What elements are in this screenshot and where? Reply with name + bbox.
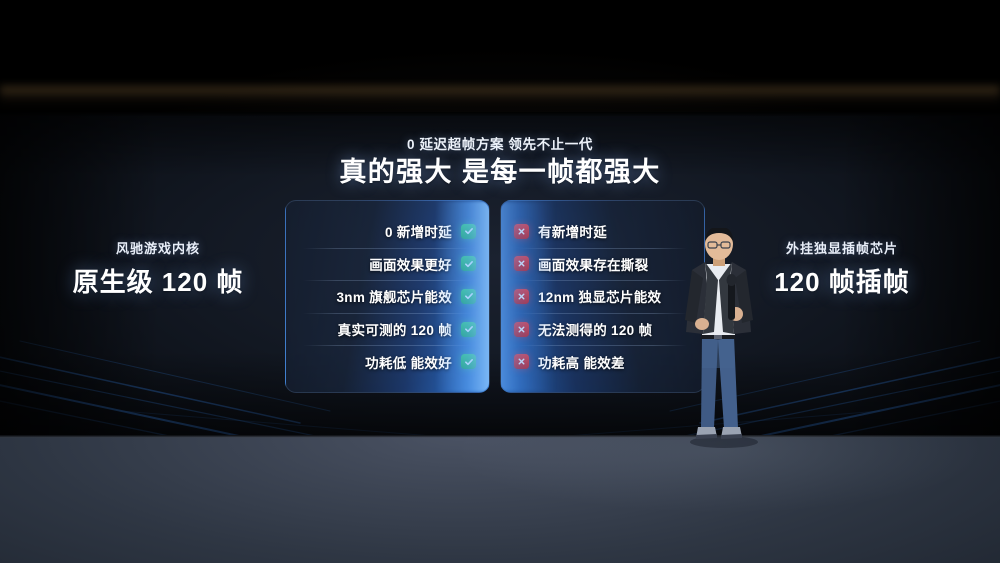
check-icon: [461, 224, 476, 239]
row-label: 画面效果更好: [369, 254, 452, 274]
list-item: 12nm 独显芯片能效: [514, 280, 691, 313]
stage-floor-sheen: [0, 435, 1000, 563]
row-label: 画面效果存在撕裂: [538, 254, 648, 274]
row-label: 真实可测的 120 帧: [338, 319, 452, 339]
list-item: 0 新增时延: [299, 215, 476, 248]
check-icon: [461, 256, 476, 271]
slide-headline: 真的强大 是每一帧都强大: [0, 150, 1000, 189]
row-label: 0 新增时延: [385, 221, 452, 241]
list-item: 功耗低 能效好: [299, 345, 476, 378]
presenter: [672, 228, 768, 448]
cross-icon: [514, 224, 529, 239]
list-item: 功耗高 能效差: [514, 345, 691, 378]
row-label: 12nm 独显芯片能效: [538, 286, 661, 306]
presentation-slide: 0 延迟超帧方案 领先不止一代 真的强大 是每一帧都强大 0 新增时延 画面效果…: [0, 112, 1000, 435]
row-label: 3nm 旗舰芯片能效: [336, 286, 452, 306]
row-label: 功耗低 能效好: [365, 352, 452, 372]
check-icon: [461, 354, 476, 369]
row-label: 功耗高 能效差: [538, 352, 625, 372]
list-item: 画面效果更好: [299, 248, 476, 281]
row-label: 无法测得的 120 帧: [538, 319, 652, 339]
list-item: 画面效果存在撕裂: [514, 248, 691, 281]
list-item: 真实可测的 120 帧: [299, 313, 476, 346]
caption-left: 风驰游戏内核 原生级 120 帧: [28, 238, 288, 299]
cross-icon: [514, 256, 529, 271]
cross-icon: [514, 322, 529, 337]
check-icon: [461, 289, 476, 304]
ceiling-glow: [0, 86, 1000, 108]
comparison-panels: 0 新增时延 画面效果更好 3nm 旗舰芯片能效: [285, 200, 705, 393]
cross-icon: [514, 289, 529, 304]
caption-left-sub: 风驰游戏内核: [28, 238, 288, 257]
panel-left-native-frames: 0 新增时延 画面效果更好 3nm 旗舰芯片能效: [285, 200, 490, 393]
list-item: 有新增时延: [514, 215, 691, 248]
cross-icon: [514, 354, 529, 369]
caption-left-main: 原生级 120 帧: [28, 262, 288, 299]
row-label: 有新增时延: [538, 221, 607, 241]
list-item: 无法测得的 120 帧: [514, 313, 691, 346]
list-item: 3nm 旗舰芯片能效: [299, 280, 476, 313]
stage-venue: 0 延迟超帧方案 领先不止一代 真的强大 是每一帧都强大 0 新增时延 画面效果…: [0, 0, 1000, 563]
check-icon: [461, 322, 476, 337]
